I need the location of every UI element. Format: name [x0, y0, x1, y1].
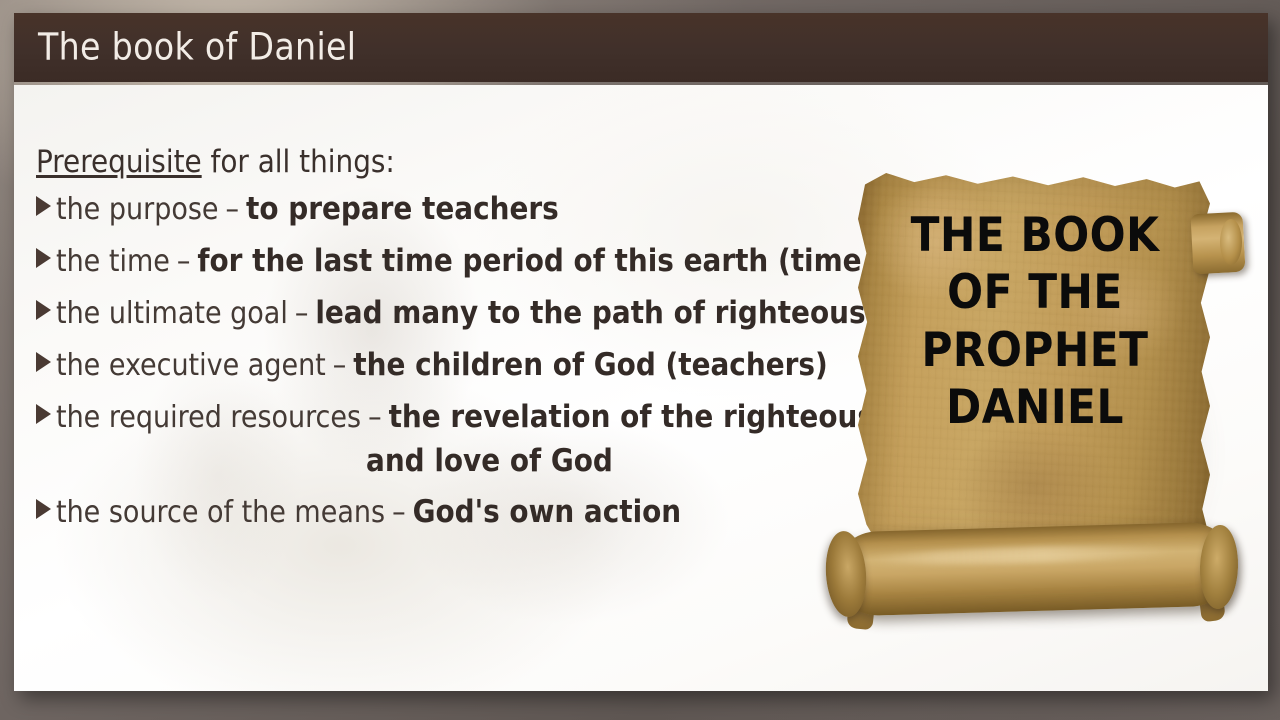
list-item: the purpose – to prepare teachers [36, 194, 876, 225]
bullet-value: God's own action [413, 497, 682, 528]
scroll-title-line-3: PROPHET [870, 322, 1200, 379]
bullet-dash: – [170, 247, 198, 277]
bullet-dash: – [288, 299, 316, 329]
scroll-title-line-4: DANIEL [870, 379, 1200, 436]
triangle-bullet-icon [36, 404, 51, 424]
bullet-value: the children of God (teachers) [353, 350, 827, 381]
bullet-label: the time [56, 247, 170, 277]
slide-content-block: Prerequisite for all things: the purpose… [36, 147, 876, 549]
desktop-backdrop: The book of Daniel Prerequisite for all … [0, 0, 1280, 720]
scroll-title-line-2: OF THE [870, 264, 1200, 321]
list-item: the source of the means – God's own acti… [36, 497, 876, 528]
prerequisite-heading: Prerequisite for all things: [36, 147, 876, 178]
scroll-illustration: THE BOOK OF THE PROPHET DANIEL [796, 95, 1266, 655]
slide-body-panel: Prerequisite for all things: the purpose… [14, 85, 1268, 691]
triangle-bullet-icon [36, 352, 51, 372]
slide-title-bar: The book of Daniel [14, 13, 1268, 82]
bullet-label: the purpose [56, 195, 219, 225]
bullet-dash: – [219, 195, 247, 225]
scroll-title-line-1: THE BOOK [870, 207, 1200, 264]
scroll-bottom-roll [837, 522, 1231, 617]
scroll-title-text: THE BOOK OF THE PROPHET DANIEL [870, 207, 1200, 436]
bullet-label: the source of the means [56, 498, 385, 528]
list-item: the executive agent – the children of Go… [36, 350, 876, 381]
list-item: the ultimate goal – lead many to the pat… [36, 298, 876, 329]
bullet-dash: – [326, 351, 354, 381]
bullet-label: the executive agent [56, 351, 326, 381]
prerequisite-underlined-word: Prerequisite [36, 144, 202, 180]
slide-card: The book of Daniel Prerequisite for all … [14, 13, 1268, 691]
bullet-value: to prepare teachers [246, 194, 559, 225]
list-item: the required resources – the revelation … [36, 402, 876, 433]
bullet-dash: – [361, 403, 389, 433]
triangle-bullet-icon [36, 499, 51, 519]
bullet-dash: – [385, 498, 413, 528]
triangle-bullet-icon [36, 248, 51, 268]
triangle-bullet-icon [36, 300, 51, 320]
bullet-label: the ultimate goal [56, 299, 288, 329]
list-item: the time – for the last time period of t… [36, 246, 876, 277]
bullet-label: the required resources [56, 403, 361, 433]
triangle-bullet-icon [36, 196, 51, 216]
prerequisite-heading-rest: for all things: [202, 144, 395, 180]
scroll-top-roll-cap [1220, 219, 1242, 265]
bullet-value-continuation: and love of God [36, 446, 876, 477]
page-title: The book of Daniel [38, 25, 356, 68]
